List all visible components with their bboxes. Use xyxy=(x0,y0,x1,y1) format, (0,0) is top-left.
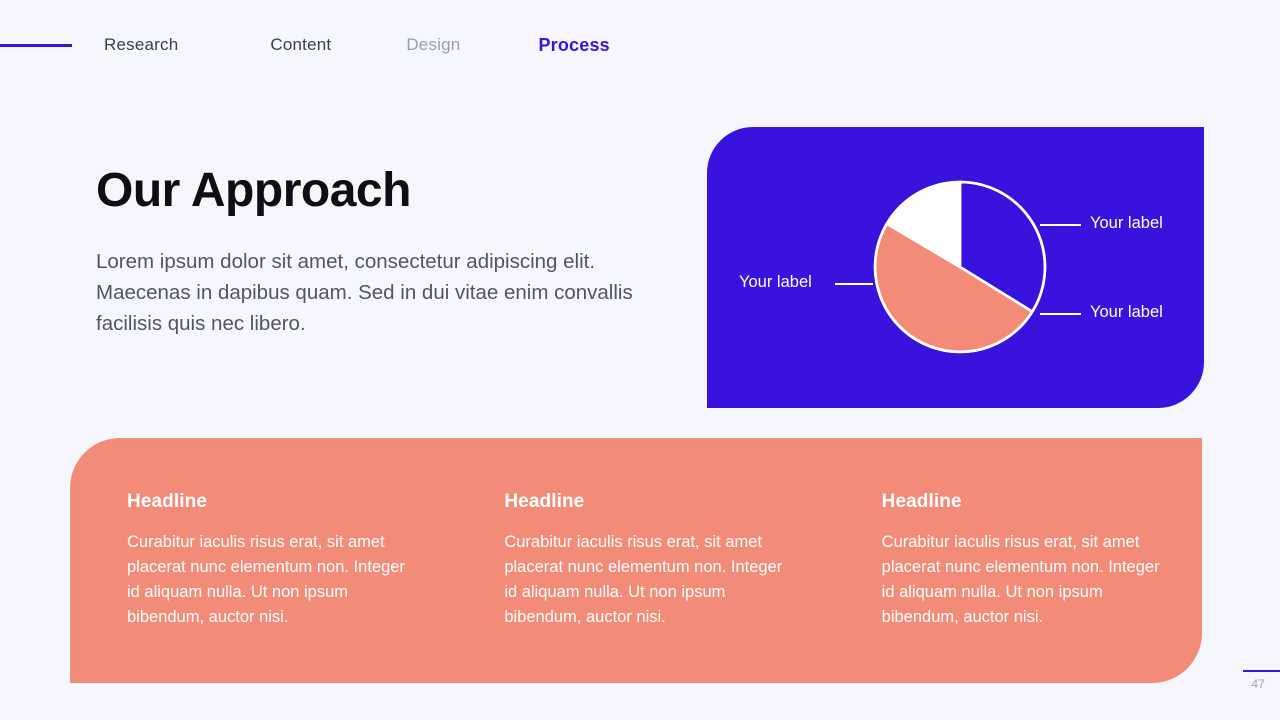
column-title: Headline xyxy=(127,491,447,513)
nav-item-design[interactable]: Design xyxy=(406,35,460,55)
column-body: Curabitur iaculis risus erat, sit amet p… xyxy=(127,530,419,630)
column-body: Curabitur iaculis risus erat, sit amet p… xyxy=(882,530,1174,630)
columns-card: Headline Curabitur iaculis risus erat, s… xyxy=(70,438,1202,683)
page-number: 47 xyxy=(1243,677,1273,691)
slide-canvas: Research Content Design Process Our Appr… xyxy=(0,0,1280,720)
pie-chart-card: Your label Your label Your label xyxy=(707,127,1204,408)
leader-line-right-top xyxy=(1040,224,1081,226)
leader-line-left xyxy=(835,283,873,285)
top-navigation: Research Content Design Process xyxy=(0,28,1280,62)
page-number-rule xyxy=(1243,670,1280,672)
nav-item-content[interactable]: Content xyxy=(270,35,331,55)
nav-accent-rule xyxy=(0,44,72,47)
column-3: Headline Curabitur iaculis risus erat, s… xyxy=(825,438,1202,683)
intro-paragraph: Lorem ipsum dolor sit amet, consectetur … xyxy=(96,246,666,339)
pie-label-right-top: Your label xyxy=(1090,214,1163,233)
nav-item-process[interactable]: Process xyxy=(538,35,609,56)
pie-label-right-bottom: Your label xyxy=(1090,303,1163,322)
pie-label-left: Your label xyxy=(739,273,812,292)
pie-chart xyxy=(872,179,1048,355)
pie-chart-svg xyxy=(872,179,1048,355)
nav-item-research[interactable]: Research xyxy=(104,35,178,55)
column-2: Headline Curabitur iaculis risus erat, s… xyxy=(447,438,824,683)
column-title: Headline xyxy=(882,491,1202,513)
headline-block: Our Approach Lorem ipsum dolor sit amet,… xyxy=(96,165,676,339)
column-body: Curabitur iaculis risus erat, sit amet p… xyxy=(504,530,796,630)
column-1: Headline Curabitur iaculis risus erat, s… xyxy=(70,438,447,683)
page-title: Our Approach xyxy=(96,165,676,218)
column-title: Headline xyxy=(504,491,824,513)
leader-line-right-bottom xyxy=(1040,313,1081,315)
